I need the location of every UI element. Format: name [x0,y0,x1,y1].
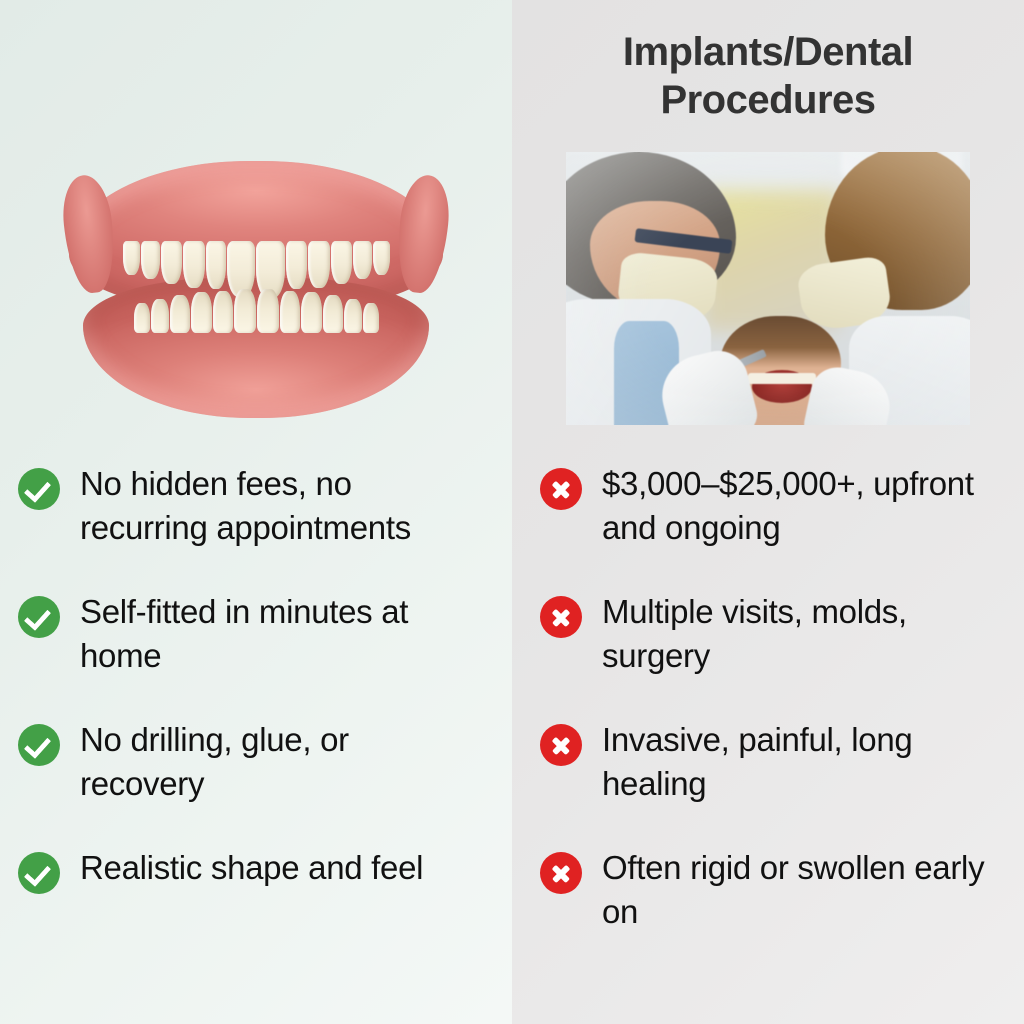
tooth [257,289,279,333]
tooth [191,292,212,333]
check-circle-icon [18,724,60,766]
tooth [234,289,256,333]
list-item: $3,000–$25,000+, upfront and ongoing [540,462,994,550]
list-item-label: Realistic shape and feel [80,846,423,890]
photo-frame [566,152,970,425]
tooth [141,241,160,279]
tooth [301,292,322,333]
tooth [134,303,150,333]
cross-circle-icon [540,724,582,766]
list-item-label: No hidden fees, no recurring appointment… [80,462,478,550]
list-item: Self-fitted in minutes at home [18,590,478,678]
cross-circle-icon [540,852,582,894]
list-item-label: Invasive, painful, long healing [602,718,994,806]
tooth [183,241,205,288]
tooth [206,241,226,289]
list-item-label: Multiple visits, molds, surgery [602,590,994,678]
list-item: No hidden fees, no recurring appointment… [18,462,478,550]
list-item-label: Self-fitted in minutes at home [80,590,478,678]
check-circle-icon [18,852,60,894]
list-item: Multiple visits, molds, surgery [540,590,994,678]
tooth [123,241,140,275]
list-item: Realistic shape and feel [18,846,478,894]
comparison-infographic: No hidden fees, no recurring appointment… [0,0,1024,1024]
tooth [280,291,300,333]
dentures-photo [0,145,512,430]
right-column-title: Implants/Dental Procedures [598,28,938,124]
tooth [170,295,190,333]
list-item: No drilling, glue, or recovery [18,718,478,806]
dental-procedure-photo [512,145,1024,430]
tooth [331,241,352,284]
lower-teeth-row [106,289,406,333]
right-column: Implants/Dental Procedures [512,0,1024,1024]
tooth [161,241,182,284]
cross-circle-icon [540,468,582,510]
tooth [323,295,343,333]
list-item: Often rigid or swollen early on [540,846,994,934]
right-drawbacks-list: $3,000–$25,000+, upfront and ongoing Mul… [512,430,1024,934]
tooth [213,291,233,333]
dentures-illustration [61,155,451,420]
check-circle-icon [18,596,60,638]
list-item-label: Often rigid or swollen early on [602,846,994,934]
tooth [363,303,379,333]
left-column: No hidden fees, no recurring appointment… [0,0,512,1024]
tooth [286,241,307,289]
check-circle-icon [18,468,60,510]
right-column-header: Implants/Dental Procedures [512,0,1024,145]
tooth [353,241,372,279]
list-item: Invasive, painful, long healing [540,718,994,806]
photo-vignette [566,152,970,425]
list-item-label: $3,000–$25,000+, upfront and ongoing [602,462,994,550]
left-column-header [0,0,512,145]
list-item-label: No drilling, glue, or recovery [80,718,478,806]
left-benefits-list: No hidden fees, no recurring appointment… [0,430,512,894]
tooth [151,299,169,333]
tooth [344,299,362,333]
tooth [373,241,390,275]
tooth [308,241,330,288]
cross-circle-icon [540,596,582,638]
